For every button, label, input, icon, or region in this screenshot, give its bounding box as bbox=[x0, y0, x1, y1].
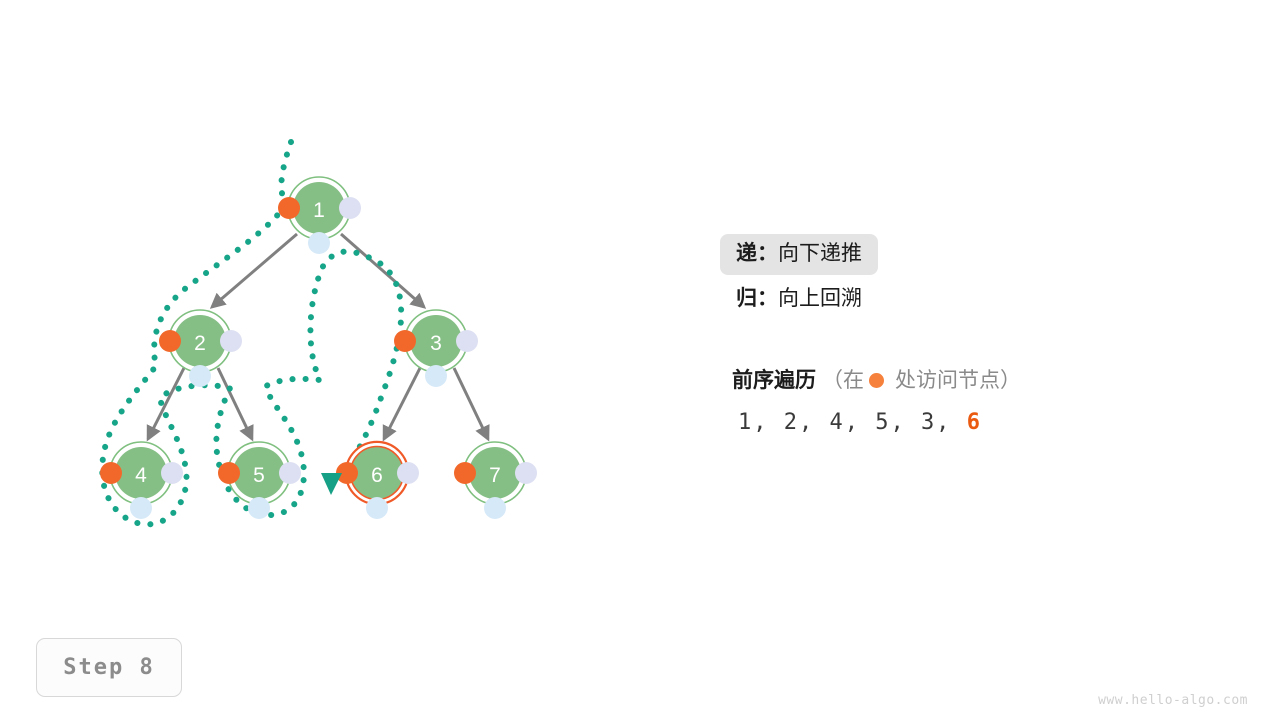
tree-node-4[interactable]: 4 bbox=[100, 442, 183, 519]
visit-dot-icon bbox=[159, 330, 181, 352]
recursion-tree-diagram: 1 2 3 4 5 bbox=[0, 0, 1280, 720]
traversal-sequence-current: 6 bbox=[967, 410, 982, 435]
legend-return-chip: 归：向上回溯 bbox=[720, 279, 878, 320]
right-dot-icon bbox=[397, 462, 419, 484]
right-dot-icon bbox=[161, 462, 183, 484]
visit-dot-icon bbox=[218, 462, 240, 484]
traversal-title: 前序遍历 bbox=[732, 369, 816, 392]
node-label: 6 bbox=[371, 464, 383, 487]
bottom-dot-icon bbox=[248, 497, 270, 519]
node-label: 5 bbox=[253, 464, 265, 487]
right-dot-icon bbox=[339, 197, 361, 219]
tree-node-3[interactable]: 3 bbox=[394, 310, 478, 387]
bottom-dot-icon bbox=[130, 497, 152, 519]
legend-descend-key: 递： bbox=[736, 242, 778, 265]
traversal-sequence-prefix: 1, 2, 4, 5, 3, bbox=[738, 410, 951, 435]
bottom-dot-icon bbox=[366, 497, 388, 519]
node-label: 1 bbox=[313, 199, 325, 222]
visit-dot-icon bbox=[278, 197, 300, 219]
tree-node-2[interactable]: 2 bbox=[159, 310, 242, 387]
visit-dot-icon bbox=[454, 462, 476, 484]
right-dot-icon bbox=[515, 462, 537, 484]
edge-3-6 bbox=[384, 368, 420, 439]
legend-row-descend: 递：向下递推 bbox=[726, 234, 1246, 275]
current-node-pointer-icon bbox=[321, 473, 342, 495]
legend-panel: 递：向下递推 归：向上回溯 bbox=[726, 234, 1246, 320]
site-watermark: www.hello-algo.com bbox=[1098, 693, 1248, 708]
tree-node-7[interactable]: 7 bbox=[454, 442, 537, 519]
edge-1-3 bbox=[341, 234, 424, 307]
right-dot-icon bbox=[220, 330, 242, 352]
bottom-dot-icon bbox=[308, 232, 330, 254]
node-label: 4 bbox=[135, 464, 147, 487]
bottom-dot-icon bbox=[189, 365, 211, 387]
traversal-note-before: （在 bbox=[822, 369, 864, 392]
tree-node-6[interactable]: 6 bbox=[336, 442, 419, 519]
legend-descend-chip: 递：向下递推 bbox=[720, 234, 878, 275]
node-label: 2 bbox=[194, 332, 206, 355]
edge-1-2 bbox=[212, 234, 297, 307]
right-dot-icon bbox=[279, 462, 301, 484]
edge-2-4 bbox=[148, 368, 184, 439]
orange-dot-icon bbox=[869, 373, 884, 388]
node-label: 7 bbox=[489, 464, 501, 487]
legend-row-return: 归：向上回溯 bbox=[726, 275, 1246, 320]
visit-dot-icon bbox=[100, 462, 122, 484]
traversal-note-after: 处访问节点） bbox=[895, 369, 1021, 392]
edge-3-7 bbox=[454, 368, 488, 439]
tree-node-5[interactable]: 5 bbox=[218, 442, 301, 519]
visit-dot-icon bbox=[394, 330, 416, 352]
bottom-dot-icon bbox=[425, 365, 447, 387]
traversal-heading: 前序遍历（在处访问节点） bbox=[732, 364, 1021, 394]
traversal-sequence: 1, 2, 4, 5, 3, 6 bbox=[738, 410, 982, 435]
step-badge: Step 8 bbox=[36, 638, 182, 697]
right-dot-icon bbox=[456, 330, 478, 352]
legend-return-key: 归： bbox=[736, 287, 778, 310]
bottom-dot-icon bbox=[484, 497, 506, 519]
node-label: 3 bbox=[430, 332, 442, 355]
legend-return-value: 向上回溯 bbox=[778, 287, 862, 310]
legend-descend-value: 向下递推 bbox=[778, 242, 862, 265]
